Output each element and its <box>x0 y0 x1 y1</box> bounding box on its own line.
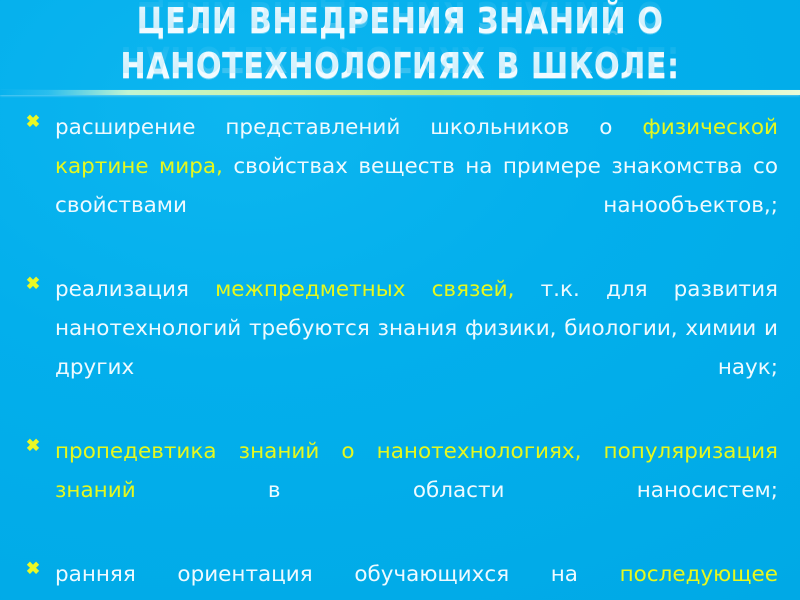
list-item-text: пропедевтика знаний о нанотехнологиях, п… <box>55 432 778 549</box>
list-item-segment: ранняя ориентация обучающихся на <box>55 562 620 587</box>
list-item-text: расширение представлений школьников о фи… <box>55 108 778 264</box>
list-item: ✖ расширение представлений школьников о … <box>22 108 778 264</box>
list-item: ✖ ранняя ориентация обучающихся на после… <box>22 555 778 600</box>
presentation-slide: ЦЕЛИ ВНЕДРЕНИЯ ЗНАНИЙ О ЦЕЛИ ВНЕДРЕНИЯ З… <box>0 0 800 600</box>
list-item-text: ранняя ориентация обучающихся на последу… <box>55 555 778 600</box>
title-line-1-wrap: ЦЕЛИ ВНЕДРЕНИЯ ЗНАНИЙ О ЦЕЛИ ВНЕДРЕНИЯ З… <box>0 0 800 45</box>
list-item-segment: в области наносистем; <box>136 478 778 503</box>
list-item: ✖ пропедевтика знаний о нанотехнологиях,… <box>22 432 778 549</box>
list-item: ✖ реализация межпредметных связей, т.к. … <box>22 270 778 426</box>
cross-bullet-icon: ✖ <box>24 559 42 579</box>
list-item-text: реализация межпредметных связей, т.к. дл… <box>55 270 778 426</box>
cross-bullet-icon: ✖ <box>24 274 42 294</box>
slide-title-line-1: ЦЕЛИ ВНЕДРЕНИЯ ЗНАНИЙ О <box>64 0 736 44</box>
title-divider <box>0 90 800 95</box>
list-item-segment-highlight: межпредметных связей, <box>215 277 514 302</box>
title-line-2-wrap: НАНОТЕХНОЛОГИЯХ В ШКОЛЕ: НАНОТЕХНОЛОГИЯХ… <box>0 45 800 90</box>
list-item-segment: расширение представлений школьников о <box>55 115 642 140</box>
bullet-list: ✖ расширение представлений школьников о … <box>22 108 778 600</box>
slide-title-block: ЦЕЛИ ВНЕДРЕНИЯ ЗНАНИЙ О ЦЕЛИ ВНЕДРЕНИЯ З… <box>0 0 800 94</box>
cross-bullet-icon: ✖ <box>24 112 42 132</box>
list-item-segment: реализация <box>55 277 215 302</box>
cross-bullet-icon: ✖ <box>24 436 42 456</box>
slide-title-line-2: НАНОТЕХНОЛОГИЯХ В ШКОЛЕ: <box>64 45 736 89</box>
